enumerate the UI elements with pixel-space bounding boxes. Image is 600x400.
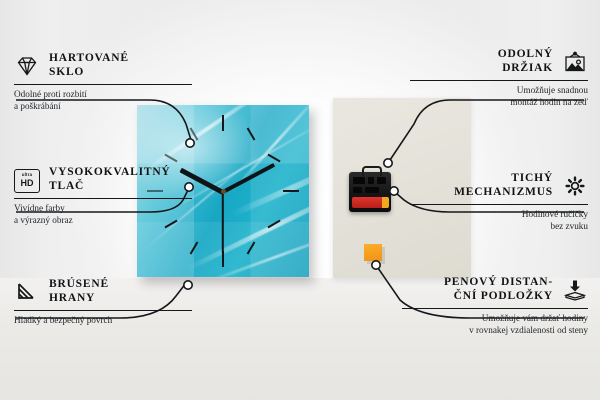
feature-header: ODOLNÝ DRŽIAK	[410, 48, 588, 75]
feature-header: HARTOVANÉ SKLO	[14, 52, 192, 79]
clock-mechanism-module	[349, 172, 391, 212]
feature-title-line2: TLAČ	[49, 180, 171, 194]
feature-title: HARTOVANÉ SKLO	[49, 52, 129, 79]
feature-desc-line1: Hodinové ručičky	[410, 209, 588, 221]
feature-title: PENOVÝ DISTAN- ČNÍ PODLOŽKY	[444, 276, 553, 303]
feature-desc-line2: montáž hodin na zeď	[410, 97, 588, 109]
feature-title-line2: HRANY	[49, 292, 109, 306]
feature-title-line1: TICHÝ	[454, 172, 553, 186]
mechanism-battery	[352, 197, 388, 208]
feature-desc-line1: Umožňuje vám držať hodiny	[402, 313, 588, 325]
feature-title: TICHÝ MECHANIZMUS	[454, 172, 553, 199]
clock-second-hand	[222, 192, 224, 254]
clock-center-pin	[221, 189, 226, 194]
foam-spacer-pad	[364, 244, 382, 261]
feature-callout-edges: BRÚSENÉ HRANY Hladký a bezpečný povrch	[14, 278, 192, 327]
feature-divider	[410, 204, 588, 205]
mechanism-slot	[377, 177, 386, 184]
feature-header: BRÚSENÉ HRANY	[14, 278, 192, 305]
feature-desc-line1: Umožňuje snadnou	[410, 85, 588, 97]
feature-desc-line1: Vivídne farby	[14, 203, 192, 215]
feature-title: BRÚSENÉ HRANY	[49, 278, 109, 305]
battery-positive-terminal	[382, 197, 389, 208]
mechanism-hanger-hook	[362, 166, 382, 176]
feature-divider	[402, 308, 588, 309]
feature-title: ODOLNÝ DRŽIAK	[498, 48, 553, 75]
clock-tick-3	[283, 190, 299, 192]
feature-divider	[14, 198, 192, 199]
hd-badge-main: HD	[21, 179, 34, 188]
feature-title-line1: HARTOVANÉ	[49, 52, 129, 66]
feature-desc-line2: v rovnakej vzdialenosti od steny	[402, 325, 588, 337]
feature-desc-line1: Hladký a bezpečný povrch	[14, 315, 192, 327]
feature-description: Odolné proti rozbití a poškrábání	[14, 89, 192, 112]
mechanism-slot	[368, 177, 374, 184]
feature-description: Umožňuje snadnou montáž hodin na zeď	[410, 85, 588, 108]
feature-header: ultra HD VYSOKOKVALITNÝ TLAČ	[14, 166, 192, 193]
feature-callout-mechanism: TICHÝ MECHANIZMUS Hodinové ručičky bez z…	[410, 172, 588, 232]
picture-frame-hanger-icon	[562, 51, 588, 73]
feature-title-line1: VYSOKOKVALITNÝ	[49, 166, 171, 180]
feature-title: VYSOKOKVALITNÝ TLAČ	[49, 166, 171, 193]
feature-desc-line2: a poškrábání	[14, 101, 192, 113]
feature-description: Hodinové ručičky bez zvuku	[410, 209, 588, 232]
diamond-icon	[14, 55, 40, 77]
feature-title-line1: PENOVÝ DISTAN-	[444, 276, 553, 290]
feature-title-line2: SKLO	[49, 66, 129, 80]
feature-divider	[14, 84, 192, 85]
feature-title-line1: ODOLNÝ	[498, 48, 553, 62]
feature-desc-line2: bez zvuku	[410, 221, 588, 233]
feature-header: TICHÝ MECHANIZMUS	[410, 172, 588, 199]
mechanism-slot	[353, 177, 365, 184]
feature-desc-line1: Odolné proti rozbití	[14, 89, 192, 101]
ground-edges-icon	[14, 281, 40, 303]
feature-title-line2: ČNÍ PODLOŽKY	[444, 290, 553, 304]
feature-title-line1: BRÚSENÉ	[49, 278, 109, 292]
feature-description: Hladký a bezpečný povrch	[14, 315, 192, 327]
foam-pad-press-icon	[562, 279, 588, 301]
mechanism-slot	[365, 187, 379, 193]
feature-callout-holder: ODOLNÝ DRŽIAK Umožňuje snadnou montáž ho…	[410, 48, 588, 108]
ultra-hd-badge-icon: ultra HD	[14, 169, 40, 191]
feature-title-line2: MECHANIZMUS	[454, 186, 553, 200]
gear-icon	[562, 175, 588, 197]
feature-header: PENOVÝ DISTAN- ČNÍ PODLOŽKY	[402, 276, 588, 303]
mechanism-slot	[353, 187, 362, 193]
feature-divider	[14, 310, 192, 311]
feature-description: Vivídne farby a výrazný obraz	[14, 203, 192, 226]
feature-desc-line2: a výrazný obraz	[14, 215, 192, 227]
feature-divider	[410, 80, 588, 81]
feature-title-line2: DRŽIAK	[498, 62, 553, 76]
feature-callout-pads: PENOVÝ DISTAN- ČNÍ PODLOŽKY Umožňuje vám…	[402, 276, 588, 336]
feature-callout-print: ultra HD VYSOKOKVALITNÝ TLAČ Vivídne far…	[14, 166, 192, 226]
feature-description: Umožňuje vám držať hodiny v rovnakej vzd…	[402, 313, 588, 336]
infographic-canvas: HARTOVANÉ SKLO Odolné proti rozbití a po…	[0, 0, 600, 400]
feature-callout-glass: HARTOVANÉ SKLO Odolné proti rozbití a po…	[14, 52, 192, 112]
hd-badge: ultra HD	[14, 169, 40, 193]
clock-tick-12	[222, 115, 224, 131]
